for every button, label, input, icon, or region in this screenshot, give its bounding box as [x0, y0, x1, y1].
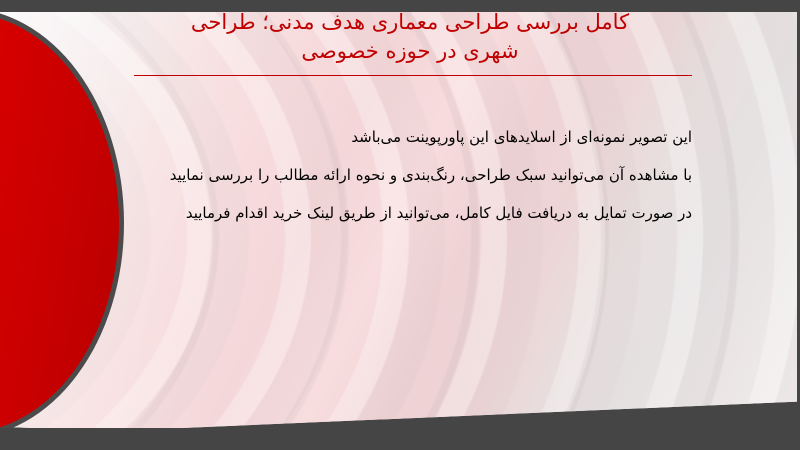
body-line-1: این تصویر نمونه‌ای از اسلایدهای این پاور…	[92, 118, 692, 156]
title-underline-rule	[134, 75, 692, 76]
body-line-3: در صورت تمایل به دریافت فایل کامل، می‌تو…	[92, 194, 692, 232]
slide-frame-top	[0, 0, 800, 12]
slide-frame-bottom	[0, 428, 800, 450]
slide-title-line-1: کامل بررسی طراحی معماری هدف مدنی؛ طراحی	[120, 8, 700, 37]
slide-body-text: این تصویر نمونه‌ای از اسلایدهای این پاور…	[92, 118, 692, 232]
body-line-2: با مشاهده آن می‌توانید سبک طراحی، رنگ‌بن…	[92, 156, 692, 194]
slide-title-line-2: شهری در حوزه خصوصی	[120, 37, 700, 66]
slide-title: کامل بررسی طراحی معماری هدف مدنی؛ طراحی …	[120, 8, 700, 66]
presentation-slide: کامل بررسی طراحی معماری هدف مدنی؛ طراحی …	[0, 0, 800, 450]
